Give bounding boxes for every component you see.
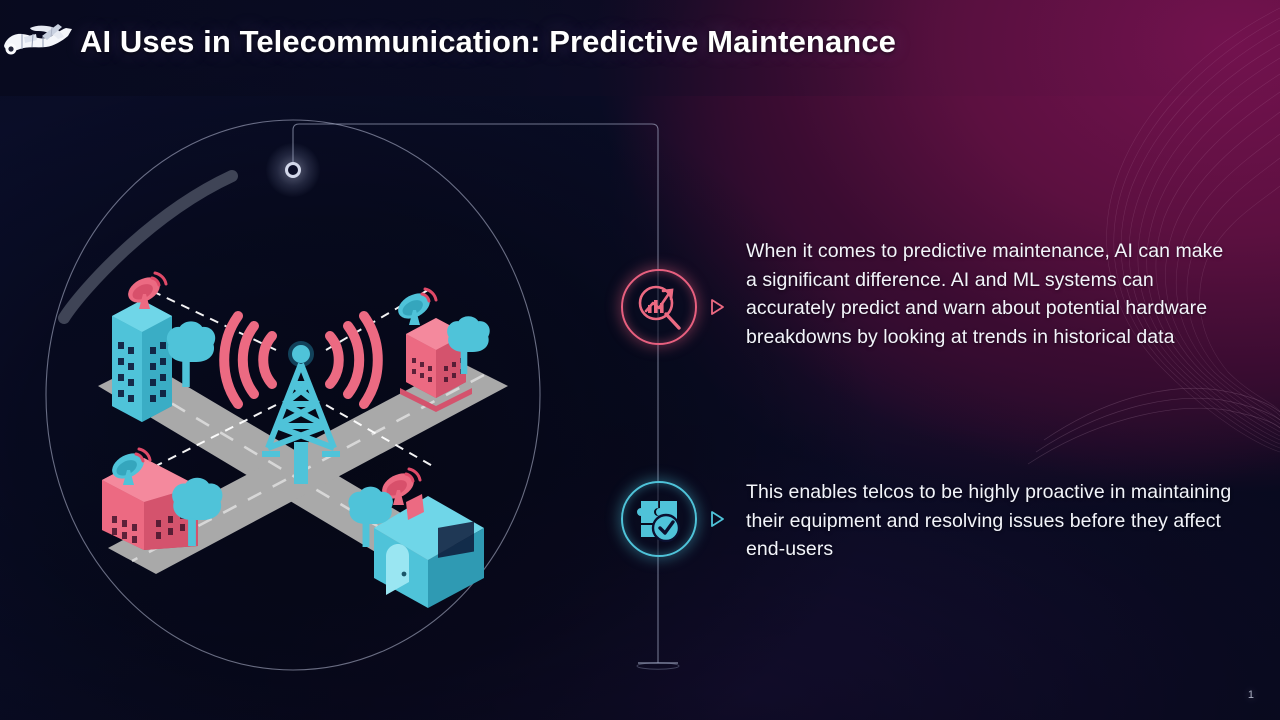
badge-proactive-maintenance[interactable] [621, 481, 697, 557]
page-number: 1 [1248, 689, 1254, 701]
office-tower-icon-top-left [112, 272, 172, 422]
tree-icon-left [167, 321, 215, 387]
house-icon-bottom-right [374, 468, 484, 608]
slide-canvas: AI Uses in Telecommunication: Predictive… [0, 0, 1280, 720]
badge-predictive-analytics[interactable] [621, 269, 697, 345]
triangle-right-icon-2 [709, 510, 725, 528]
puzzle-pieces-check-icon [633, 493, 685, 545]
page-title: AI Uses in Telecommunication: Predictive… [80, 24, 896, 60]
robot-hand-logo [2, 16, 78, 66]
telecom-network-illustration [40, 150, 560, 680]
point-text-2: This enables telcos to be highly proacti… [746, 478, 1238, 564]
point-text-1: When it comes to predictive maintenance,… [746, 237, 1238, 351]
magnifying-glass-trend-chart-icon [633, 281, 685, 333]
triangle-right-icon-1 [709, 298, 725, 316]
